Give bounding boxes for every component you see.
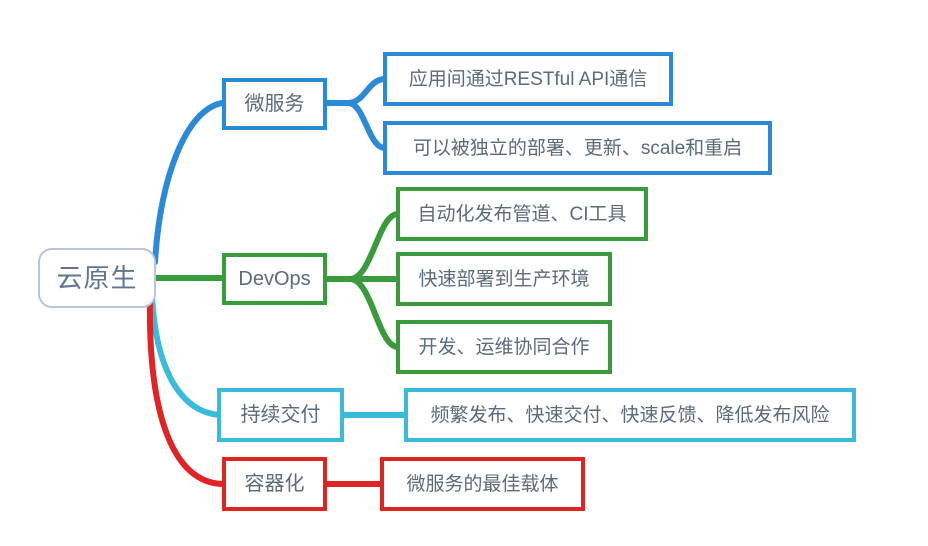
leaf-node-devops-2[interactable]: 快速部署到生产环境 [396, 252, 612, 306]
connector-microservices-to-child-1 [348, 79, 385, 103]
branch-node-continuous-delivery-label: 持续交付 [241, 405, 321, 425]
mind-map-canvas: 云原生 微服务 应用间通过RESTful API通信 可以被独立的部署、更新、s… [0, 0, 928, 546]
branch-node-microservices-label: 微服务 [245, 94, 305, 114]
connector-root-to-continuous-delivery [152, 296, 221, 415]
leaf-node-devops-3-label: 开发、运维协同合作 [418, 338, 589, 357]
leaf-node-devops-2-label: 快速部署到生产环境 [418, 270, 589, 289]
leaf-node-containerization-1-label: 微服务的最佳载体 [406, 475, 558, 494]
branch-node-devops-label: DevOps [238, 269, 310, 289]
leaf-node-continuous-delivery-1-label: 频繁发布、快速交付、快速反馈、降低发布风险 [430, 406, 829, 425]
branch-node-containerization[interactable]: 容器化 [222, 457, 327, 511]
branch-node-containerization-label: 容器化 [245, 474, 305, 494]
leaf-node-devops-1[interactable]: 自动化发布管道、CI工具 [396, 187, 648, 241]
branch-node-devops[interactable]: DevOps [222, 253, 327, 305]
leaf-node-microservices-2[interactable]: 可以被独立的部署、更新、scale和重启 [383, 121, 772, 175]
leaf-node-containerization-1[interactable]: 微服务的最佳载体 [380, 457, 585, 511]
connector-root-to-microservices [155, 103, 222, 262]
leaf-node-microservices-1[interactable]: 应用间通过RESTful API通信 [383, 52, 673, 106]
connector-devops-to-child-3 [350, 279, 398, 347]
root-node-label: 云原生 [56, 265, 137, 291]
leaf-node-microservices-1-label: 应用间通过RESTful API通信 [409, 70, 648, 89]
branch-node-continuous-delivery[interactable]: 持续交付 [217, 388, 344, 442]
root-node-cloud-native[interactable]: 云原生 [38, 248, 156, 308]
connector-devops-to-child-1 [350, 214, 398, 279]
branch-node-microservices[interactable]: 微服务 [222, 78, 327, 130]
leaf-node-devops-1-label: 自动化发布管道、CI工具 [417, 205, 626, 224]
connector-root-to-containerization [150, 298, 222, 484]
leaf-node-microservices-2-label: 可以被独立的部署、更新、scale和重启 [413, 139, 742, 158]
leaf-node-continuous-delivery-1[interactable]: 频繁发布、快速交付、快速反馈、降低发布风险 [404, 388, 856, 442]
connector-microservices-to-child-2 [348, 103, 385, 148]
leaf-node-devops-3[interactable]: 开发、运维协同合作 [396, 320, 612, 374]
